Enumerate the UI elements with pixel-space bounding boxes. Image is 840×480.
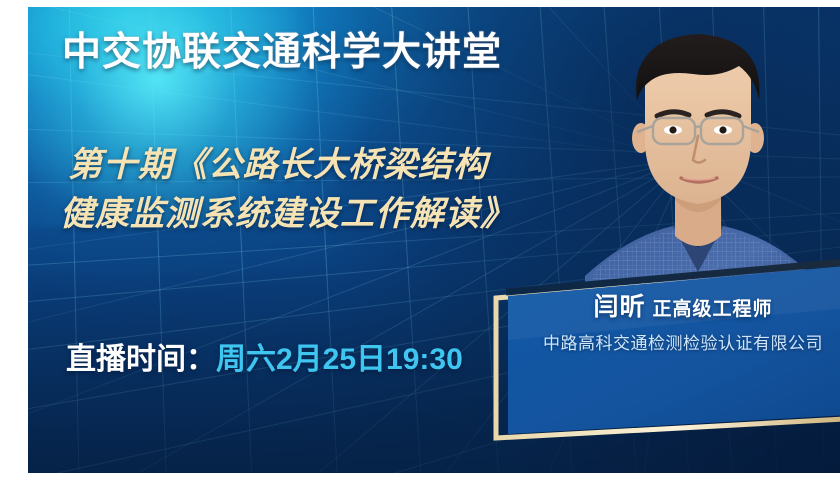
speaker-organization: 中路高科交通检测检验认证有限公司: [498, 329, 840, 354]
episode-subtitle-line2: 健康监测系统建设工作解读》: [60, 190, 588, 239]
poster-root: 闫昕正高级工程师 中路高科交通检测检验认证有限公司 中交协联交通科学大讲堂 第十…: [0, 0, 840, 480]
page-title: 中交协联交通科学大讲堂: [62, 33, 502, 72]
episode-subtitle: 第十期《公路长大桥梁结构 健康监测系统建设工作解读》: [68, 141, 588, 239]
poster-artwork: 闫昕正高级工程师 中路高科交通检测检验认证有限公司 中交协联交通科学大讲堂 第十…: [28, 7, 840, 473]
live-time: 直播时间：周六2月25日19:30: [66, 334, 463, 378]
episode-subtitle-line1: 第十期《公路长大桥梁结构: [68, 146, 488, 184]
live-time-value: 周六2月25日19:30: [216, 343, 463, 376]
speaker-rank: 正高级工程师: [653, 299, 773, 320]
speaker-name: 闫昕: [593, 293, 645, 321]
live-time-label: 直播时间：: [66, 343, 216, 376]
speaker-card-text: 闫昕正高级工程师 中路高科交通检测检验认证有限公司: [498, 295, 840, 354]
speaker-name-row: 闫昕正高级工程师: [498, 295, 840, 320]
